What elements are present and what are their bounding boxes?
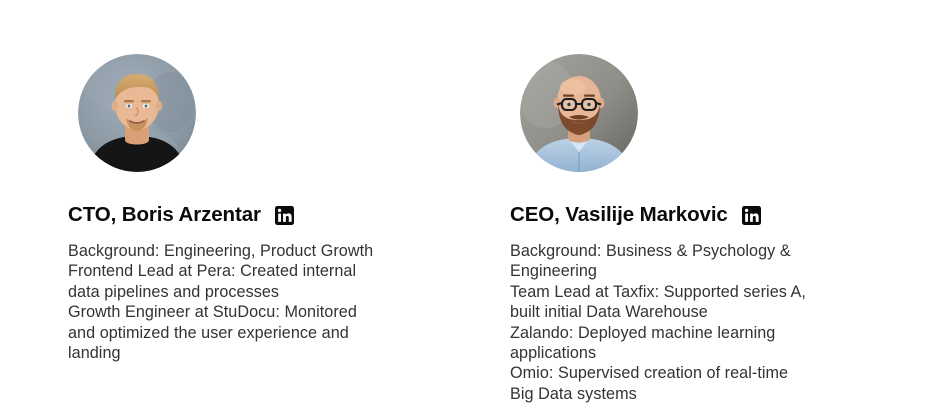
name-row: CEO, Vasilije Markovic xyxy=(510,202,910,228)
profile-bio: Background: Business & Psychology & Engi… xyxy=(510,241,860,404)
linkedin-icon[interactable] xyxy=(275,206,294,225)
bio-line: landing xyxy=(68,343,413,363)
bio-line: Background: Business & Psychology & xyxy=(510,241,860,261)
bio-line: applications xyxy=(510,343,860,363)
bio-line: Frontend Lead at Pera: Created internal xyxy=(68,261,413,281)
profile-card-cto: CTO, Boris Arzentar Background: Engineer… xyxy=(68,54,468,363)
name-row: CTO, Boris Arzentar xyxy=(68,202,468,228)
avatar-boris-arzentar xyxy=(78,54,196,172)
bio-line: built initial Data Warehouse xyxy=(510,302,860,322)
bio-line: Background: Engineering, Product Growth xyxy=(68,241,413,261)
bio-line: and optimized the user experience and xyxy=(68,323,413,343)
bio-line: Big Data systems xyxy=(510,384,860,404)
team-profiles-section: CTO, Boris Arzentar Background: Engineer… xyxy=(0,0,948,412)
linkedin-icon[interactable] xyxy=(742,206,761,225)
person-name: CTO, Boris Arzentar xyxy=(68,202,261,228)
person-name: CEO, Vasilije Markovic xyxy=(510,202,728,228)
bio-line: data pipelines and processes xyxy=(68,282,413,302)
avatar-vasilije-markovic xyxy=(520,54,638,172)
bio-line: Team Lead at Taxfix: Supported series A, xyxy=(510,282,860,302)
bio-line: Engineering xyxy=(510,261,860,281)
bio-line: Omio: Supervised creation of real-time xyxy=(510,363,860,383)
bio-line: Growth Engineer at StuDocu: Monitored xyxy=(68,302,413,322)
profile-card-ceo: CEO, Vasilije Markovic Background: Busin… xyxy=(510,54,910,404)
profile-bio: Background: Engineering, Product Growth … xyxy=(68,241,413,363)
bio-line: Zalando: Deployed machine learning xyxy=(510,323,860,343)
